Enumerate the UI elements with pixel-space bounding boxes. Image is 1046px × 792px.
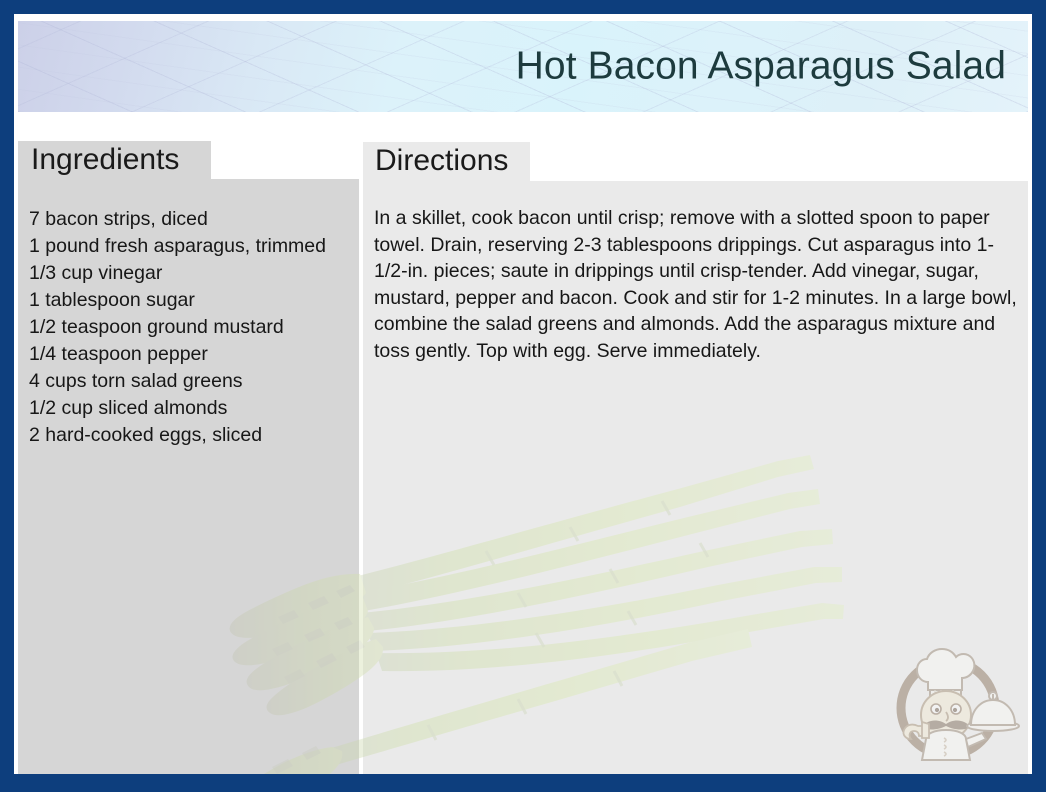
ingredients-column: Ingredients 7 bacon strips, diced 1 poun… (18, 126, 359, 774)
list-item: 1/2 cup sliced almonds (29, 395, 359, 422)
ingredients-list: 7 bacon strips, diced 1 pound fresh aspa… (29, 206, 359, 449)
list-item: 4 cups torn salad greens (29, 368, 359, 395)
title-banner: Hot Bacon Asparagus Salad (18, 21, 1028, 112)
list-item: 1/2 teaspoon ground mustard (29, 314, 359, 341)
ingredients-heading: Ingredients (31, 142, 179, 178)
recipe-card-page: Hot Bacon Asparagus Salad Ingredients 7 … (14, 14, 1032, 774)
list-item: 1/4 teaspoon pepper (29, 341, 359, 368)
list-item: 2 hard-cooked eggs, sliced (29, 422, 359, 449)
page-title: Hot Bacon Asparagus Salad (516, 46, 1006, 85)
directions-body-text: In a skillet, cook bacon until crisp; re… (374, 205, 1019, 364)
list-item: 7 bacon strips, diced (29, 206, 359, 233)
list-item: 1 tablespoon sugar (29, 287, 359, 314)
directions-heading: Directions (375, 143, 508, 179)
directions-column: Directions In a skillet, cook bacon unti… (363, 126, 1028, 774)
recipe-card-frame: Hot Bacon Asparagus Salad Ingredients 7 … (0, 0, 1046, 792)
content-area: Ingredients 7 bacon strips, diced 1 poun… (18, 126, 1028, 774)
list-item: 1/3 cup vinegar (29, 260, 359, 287)
list-item: 1 pound fresh asparagus, trimmed (29, 233, 359, 260)
